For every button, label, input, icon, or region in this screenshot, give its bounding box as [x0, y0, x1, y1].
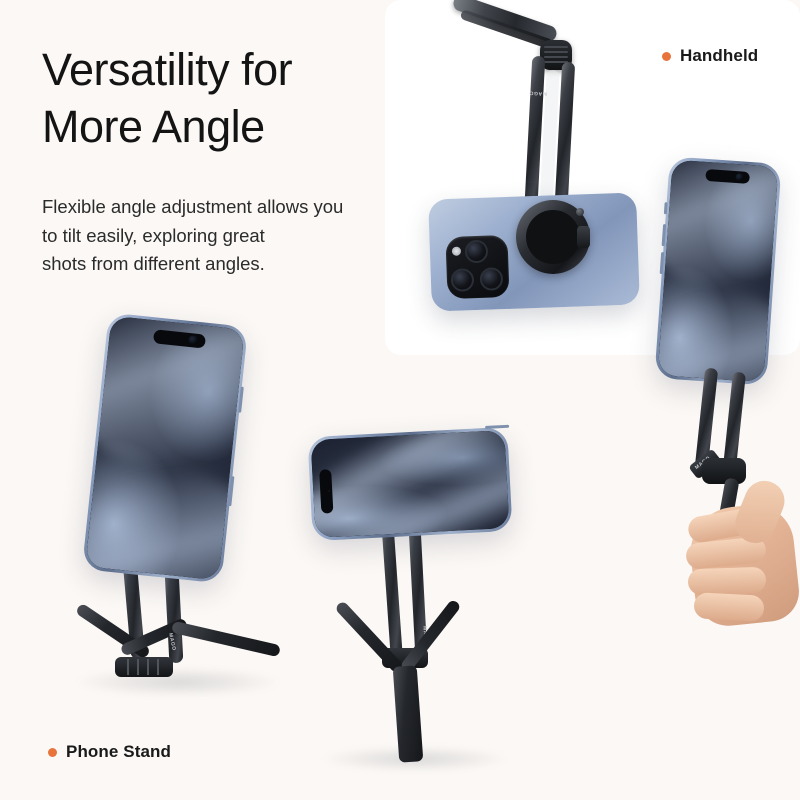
- phone-display: [85, 316, 245, 581]
- drop-shadow: [73, 667, 283, 697]
- description-text: Flexible angle adjustment allows you to …: [42, 193, 414, 279]
- product-shot-phone-stand-landscape: MAGO: [300, 420, 550, 770]
- stand-hinge-base: [115, 657, 173, 677]
- phone-portrait-screen: [654, 156, 781, 385]
- wallpaper: [85, 316, 245, 581]
- camera-module: [445, 235, 509, 299]
- hand-grip: [672, 472, 798, 624]
- volume-up-button: [662, 224, 667, 246]
- flash-icon: [452, 247, 461, 256]
- camera-lens: [451, 268, 475, 292]
- phone-display: [658, 160, 779, 383]
- mute-switch: [664, 202, 668, 214]
- headline-line-2: More Angle: [42, 99, 402, 156]
- volume-down-button: [660, 252, 665, 274]
- callout-label: Handheld: [680, 46, 758, 66]
- phone-display: [311, 430, 510, 538]
- callout-phone-stand: Phone Stand: [48, 742, 171, 762]
- bullet-dot-icon: [662, 52, 671, 61]
- wallpaper: [658, 160, 779, 383]
- stand-leg-right: [723, 372, 746, 469]
- phone-portrait-screen: [82, 312, 248, 583]
- tripod-leg-right: [399, 599, 461, 674]
- headline-line-1: Versatility for: [42, 44, 292, 95]
- ring-screw: [576, 208, 584, 216]
- callout-handheld: Handheld: [662, 46, 758, 66]
- description-line-3: shots from different angles.: [42, 250, 414, 279]
- product-shot-handheld-grip: MAGO: [640, 160, 800, 620]
- camera-lens: [465, 240, 489, 264]
- product-shot-phone-stand-vertical: MAGO: [55, 295, 315, 715]
- description-line-2: to tilt easily, exploring great: [42, 222, 414, 251]
- brand-mark: MAGO: [529, 90, 547, 97]
- description-line-1: Flexible angle adjustment allows you: [42, 193, 414, 222]
- camera-lens: [480, 267, 504, 291]
- finger: [693, 592, 764, 622]
- finger: [688, 567, 767, 596]
- stand-post-left: [381, 524, 402, 655]
- action-button: [228, 476, 234, 506]
- ring-clamp-notch: [577, 226, 590, 248]
- power-button: [485, 425, 509, 429]
- callout-label: Phone Stand: [66, 742, 171, 762]
- magsafe-ring-clamp: [516, 200, 590, 274]
- phone-landscape-screen: [307, 427, 512, 541]
- page-title: Versatility for More Angle: [42, 42, 402, 155]
- product-marketing-banner: Versatility for More Angle Flexible angl…: [0, 0, 800, 800]
- power-button: [238, 387, 244, 413]
- dynamic-island: [319, 469, 333, 514]
- bullet-dot-icon: [48, 748, 57, 757]
- stand-leg-right: [171, 621, 281, 657]
- wallpaper: [311, 430, 510, 538]
- product-shot-magsafe-handheld: MAGO: [400, 18, 640, 348]
